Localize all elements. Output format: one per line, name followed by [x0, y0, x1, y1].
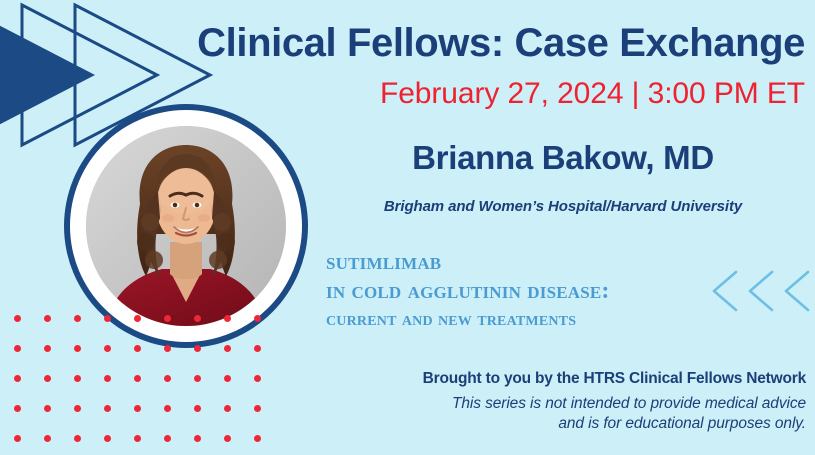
- talk-title: Sutimlimab in Cold Agglutinin Disease: C…: [326, 248, 696, 331]
- speaker-affiliation: Brigham and Women’s Hospital/Harvard Uni…: [320, 198, 806, 215]
- grid-dot: [134, 435, 141, 442]
- grid-dot: [74, 435, 81, 442]
- grid-dot: [14, 315, 21, 322]
- grid-dot: [254, 345, 261, 352]
- grid-dot: [164, 435, 171, 442]
- grid-dot: [14, 435, 21, 442]
- grid-dot: [104, 405, 111, 412]
- event-announcement-poster: Clinical Fellows: Case Exchange February…: [0, 0, 815, 455]
- dot-grid-decoration: [14, 315, 280, 455]
- footer-disclaimer-line-2: and is for educational purposes only.: [280, 414, 806, 434]
- grid-dot: [104, 315, 111, 322]
- grid-dot: [14, 405, 21, 412]
- grid-dot: [44, 435, 51, 442]
- grid-dot: [44, 375, 51, 382]
- grid-dot: [44, 315, 51, 322]
- grid-dot: [134, 345, 141, 352]
- grid-dot: [254, 435, 261, 442]
- grid-dot: [254, 405, 261, 412]
- grid-dot: [194, 435, 201, 442]
- speaker-name: Brianna Bakow, MD: [320, 140, 806, 176]
- grid-dot: [44, 345, 51, 352]
- grid-dot: [194, 375, 201, 382]
- grid-dot: [164, 405, 171, 412]
- talk-title-line-3: Current and New Treatments: [326, 307, 696, 331]
- grid-dot: [74, 405, 81, 412]
- grid-dot: [104, 345, 111, 352]
- grid-dot: [164, 345, 171, 352]
- talk-title-line-1: Sutimlimab: [326, 248, 696, 277]
- grid-dot: [224, 315, 231, 322]
- avatar-photo: [86, 126, 286, 326]
- grid-dot: [224, 435, 231, 442]
- chevron-left-icon: [708, 268, 812, 314]
- grid-dot: [74, 315, 81, 322]
- footer-credit: Brought to you by the HTRS Clinical Fell…: [280, 370, 806, 388]
- grid-dot: [134, 405, 141, 412]
- grid-dot: [194, 315, 201, 322]
- grid-dot: [14, 375, 21, 382]
- grid-dot: [194, 345, 201, 352]
- grid-dot: [74, 375, 81, 382]
- grid-dot: [44, 405, 51, 412]
- page-title: Clinical Fellows: Case Exchange: [150, 23, 805, 65]
- footer-disclaimer-line-1: This series is not intended to provide m…: [280, 394, 806, 414]
- grid-dot: [104, 375, 111, 382]
- grid-dot: [254, 375, 261, 382]
- grid-dot: [74, 345, 81, 352]
- event-date: February 27, 2024 | 3:00 PM ET: [150, 77, 805, 110]
- grid-dot: [104, 435, 111, 442]
- grid-dot: [134, 315, 141, 322]
- grid-dot: [14, 345, 21, 352]
- grid-dot: [134, 375, 141, 382]
- grid-dot: [224, 345, 231, 352]
- avatar: [64, 104, 308, 348]
- footer-disclaimer: This series is not intended to provide m…: [280, 394, 806, 434]
- talk-title-line-2: in Cold Agglutinin Disease:: [326, 277, 696, 306]
- grid-dot: [224, 405, 231, 412]
- grid-dot: [164, 375, 171, 382]
- grid-dot: [164, 315, 171, 322]
- grid-dot: [224, 375, 231, 382]
- grid-dot: [194, 405, 201, 412]
- grid-dot: [254, 315, 261, 322]
